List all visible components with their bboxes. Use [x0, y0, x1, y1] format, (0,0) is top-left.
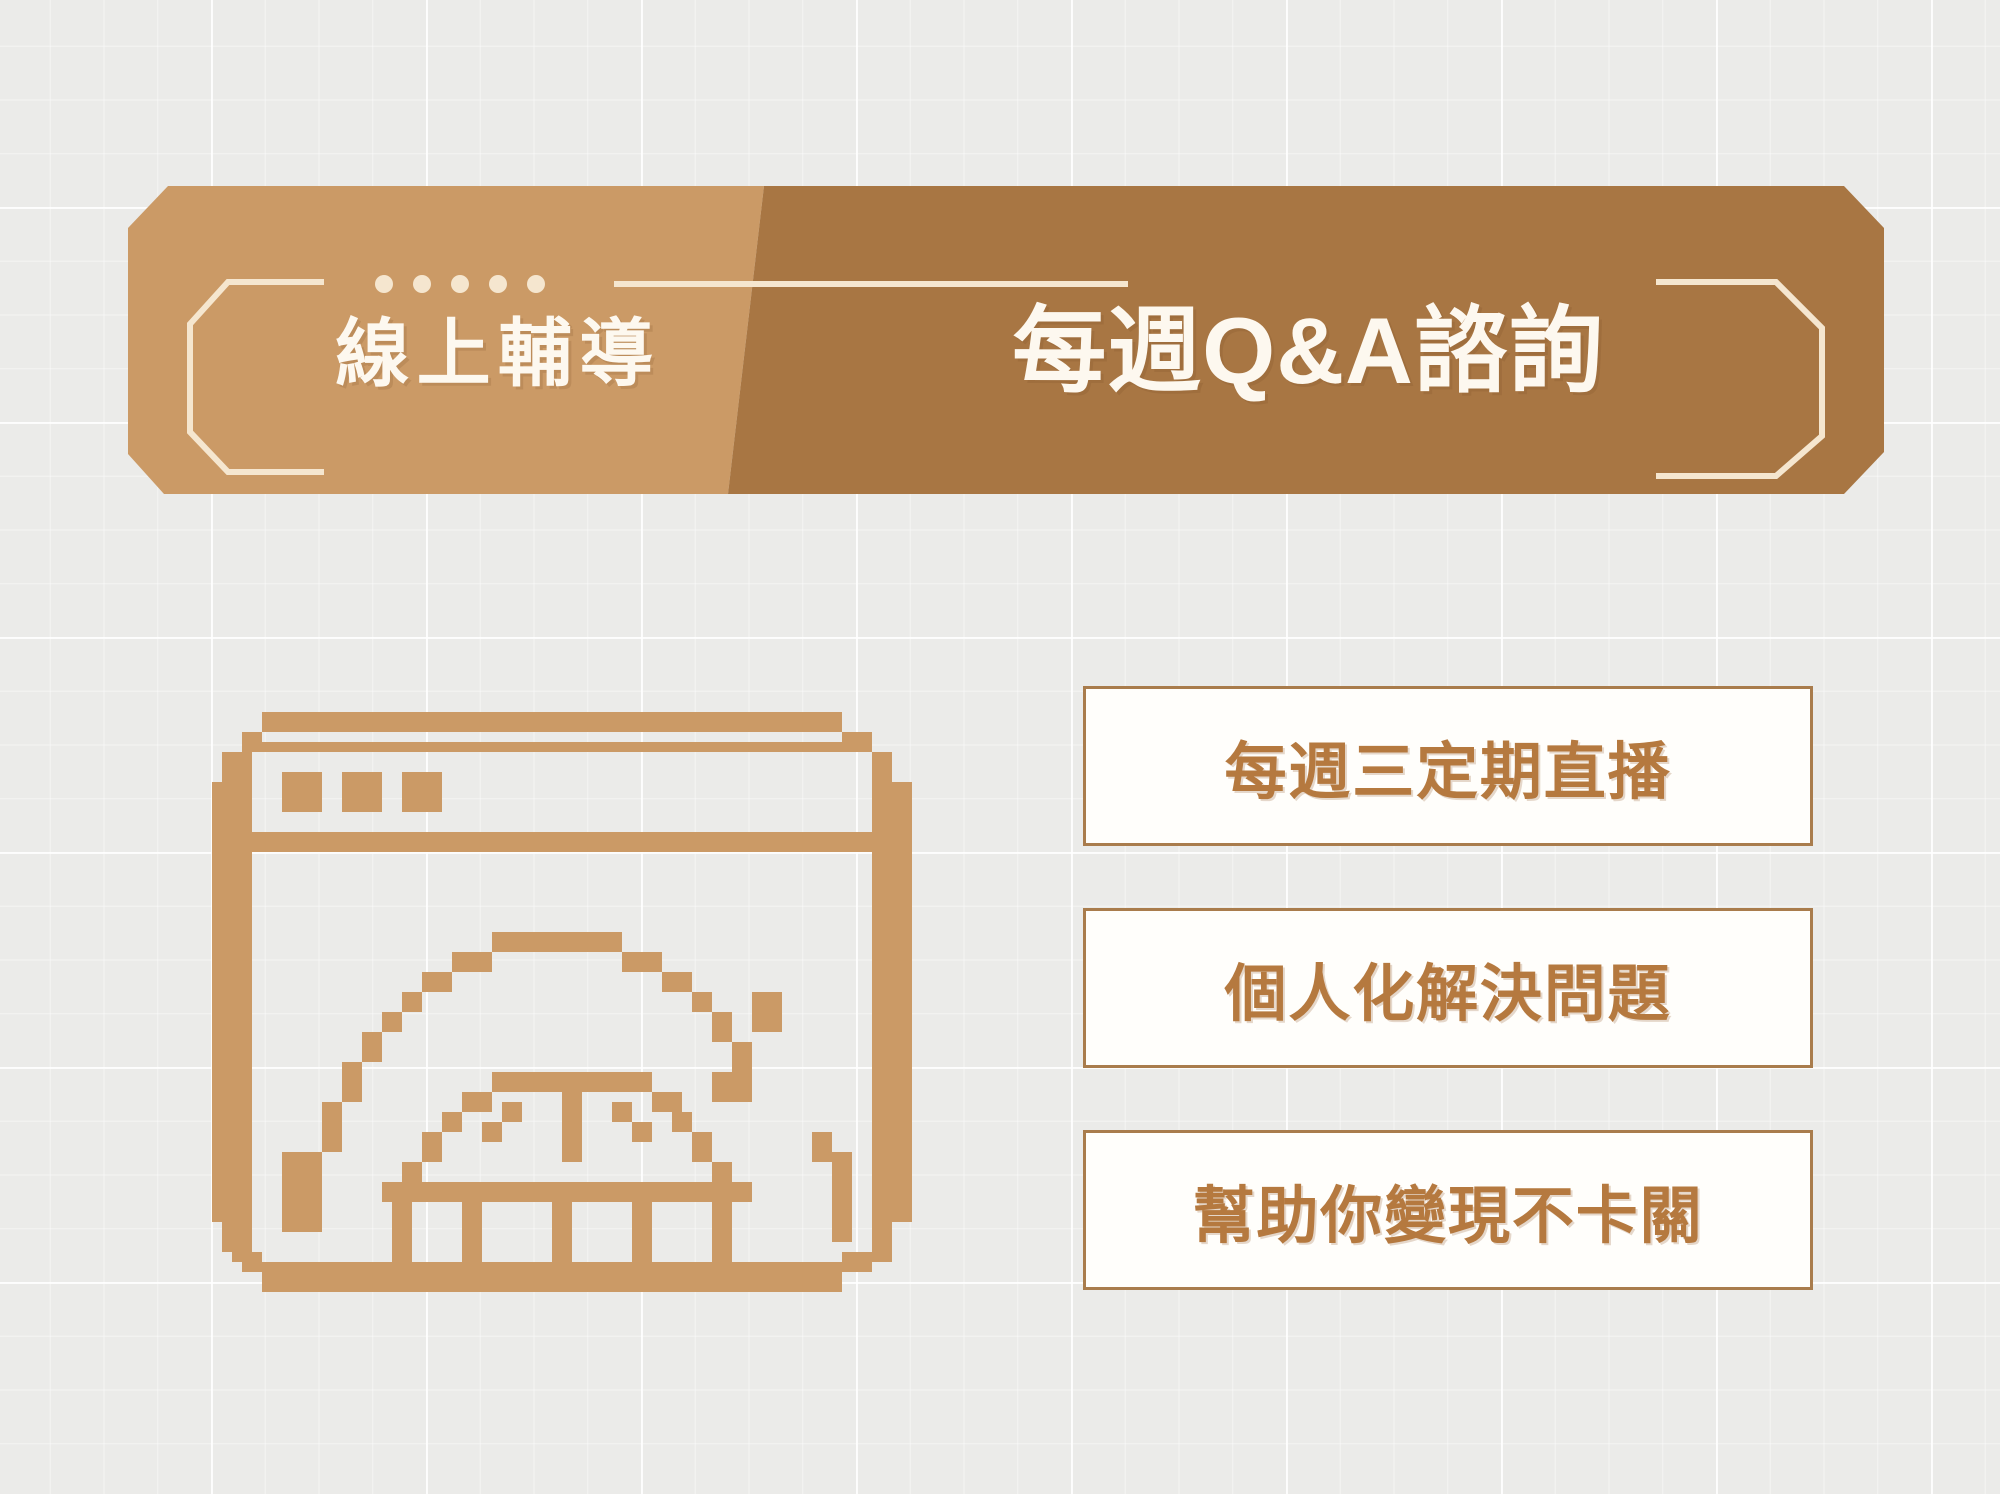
banner-title-text: 每週Q&A諮詢 [828, 268, 1788, 418]
banner-left-tag-text: 線上輔導 [238, 282, 758, 412]
header-banner: 線上輔導 每週Q&A諮詢 [128, 186, 1884, 494]
feature-list: 每週三定期直播 個人化解決問題 幫助你變現不卡關 [1083, 686, 1813, 1290]
feature-box-1[interactable]: 每週三定期直播 [1083, 686, 1813, 846]
feature-box-2[interactable]: 個人化解決問題 [1083, 908, 1813, 1068]
feature-box-3[interactable]: 幫助你變現不卡關 [1083, 1130, 1813, 1290]
feature-text-2: 個人化解決問題 [1224, 943, 1671, 1033]
pixel-browser-window-icon [212, 712, 912, 1312]
feature-text-3: 幫助你變現不卡關 [1193, 1165, 1704, 1255]
feature-text-1: 每週三定期直播 [1224, 721, 1671, 811]
pixel-icon-art [212, 712, 912, 1312]
